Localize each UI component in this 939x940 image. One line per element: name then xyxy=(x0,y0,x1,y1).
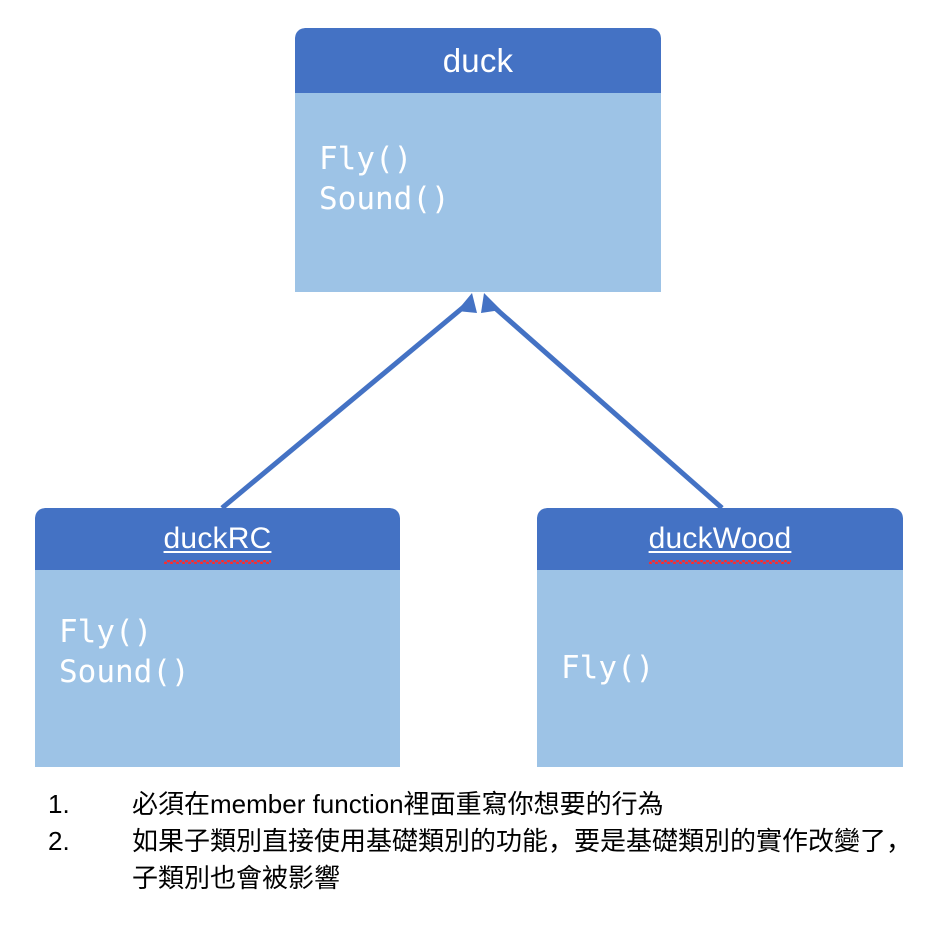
class-box-duckwood[interactable]: duckWood Fly() xyxy=(537,508,903,767)
connector-duckwood-to-duck xyxy=(481,293,722,508)
class-box-duckrc[interactable]: duckRC Fly() Sound() xyxy=(35,508,400,767)
note-item: 1. 必須在member function裡面重寫你想要的行為 xyxy=(48,786,928,823)
class-members-duckrc: Fly() Sound() xyxy=(35,570,400,767)
class-name-duckrc: duckRC xyxy=(164,522,272,556)
note-text: 如果子類別直接使用基礎類別的功能，要是基礎類別的實作改變了，子類別也會被影響 xyxy=(132,823,928,897)
class-header-duckwood: duckWood xyxy=(537,508,903,570)
class-header-duck: duck xyxy=(295,28,661,93)
class-name-duckwood: duckWood xyxy=(649,522,792,556)
arrowhead-duckwood xyxy=(481,293,501,313)
class-name-duck: duck xyxy=(443,42,514,80)
class-members-duckwood: Fly() xyxy=(537,570,903,767)
note-item: 2. 如果子類別直接使用基礎類別的功能，要是基礎類別的實作改變了，子類別也會被影… xyxy=(48,823,928,897)
class-box-duck[interactable]: duck Fly() Sound() xyxy=(295,28,661,292)
connector-line-duckwood xyxy=(486,300,722,508)
note-marker: 2. xyxy=(48,823,132,860)
arrowhead-duckrc xyxy=(457,293,477,313)
note-marker: 1. xyxy=(48,786,132,823)
notes-list: 1. 必須在member function裡面重寫你想要的行為 2. 如果子類別… xyxy=(48,786,928,897)
class-header-duckrc: duckRC xyxy=(35,508,400,570)
class-members-duck: Fly() Sound() xyxy=(295,93,661,292)
note-text: 必須在member function裡面重寫你想要的行為 xyxy=(132,786,928,823)
connector-line-duckrc xyxy=(222,300,472,508)
connector-duckrc-to-duck xyxy=(222,293,477,508)
diagram-canvas: duck Fly() Sound() duckRC Fly() Sound() … xyxy=(0,0,939,940)
